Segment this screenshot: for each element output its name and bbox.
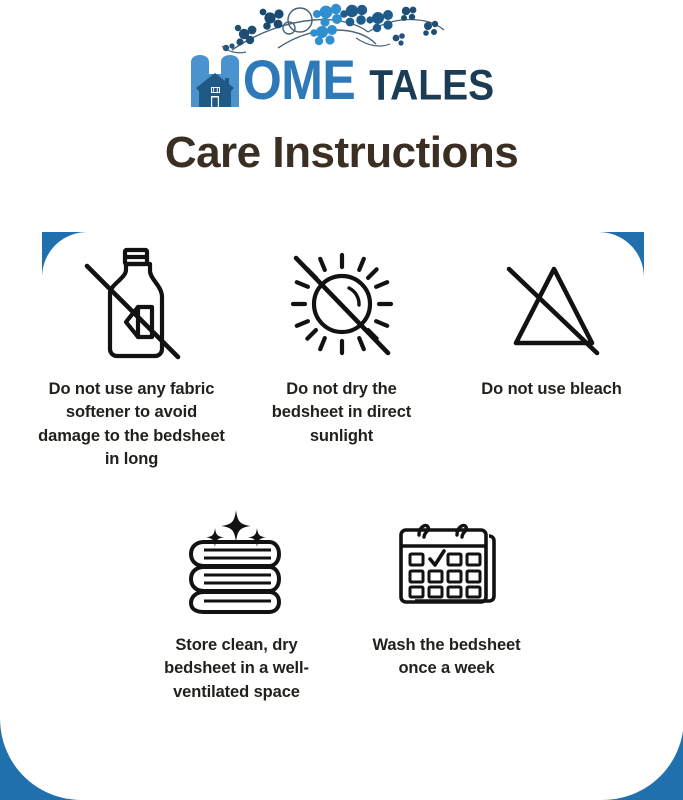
instructions-row-2: Store clean, dry bedsheet in a well-vent… <box>0 500 683 704</box>
brand-logo: OME TALES <box>0 0 683 118</box>
calendar-icon <box>393 500 501 620</box>
corner-accent-bottom-left <box>0 718 82 800</box>
instruction-card-no-bleach: Do not use bleach <box>447 244 657 401</box>
page-title: Care Instructions <box>0 128 683 178</box>
instruction-caption: Do not use any fabric softener to avoid … <box>37 378 227 472</box>
instruction-caption: Do not dry the bedsheet in direct sunlig… <box>259 378 424 448</box>
no-direct-sunlight-icon <box>283 244 401 364</box>
care-instructions-page: OME TALES Care Instructions <box>0 0 683 800</box>
corner-accent-bottom-right <box>602 718 683 800</box>
instruction-caption: Do not use bleach <box>481 378 621 401</box>
folded-towels-icon <box>181 500 293 620</box>
brand-wordmark: OME TALES <box>0 52 683 108</box>
logo-text-tales: TALES <box>369 64 494 107</box>
floral-vine-icon <box>218 2 468 54</box>
instruction-card-wash-weekly: Wash the bedsheet once a week <box>342 500 552 681</box>
instructions-grid: Do not use any fabric softener to avoid … <box>0 232 683 704</box>
no-fabric-softener-icon <box>74 244 190 364</box>
logo-text-home: OME <box>243 52 355 108</box>
instructions-row-1: Do not use any fabric softener to avoid … <box>0 244 683 472</box>
logo-h-with-house-icon <box>189 54 241 108</box>
instruction-caption: Store clean, dry bedsheet in a well-vent… <box>154 634 319 704</box>
instruction-caption: Wash the bedsheet once a week <box>364 634 529 681</box>
instruction-card-store-clean-dry: Store clean, dry bedsheet in a well-vent… <box>132 500 342 704</box>
instruction-card-no-direct-sunlight: Do not dry the bedsheet in direct sunlig… <box>237 244 447 448</box>
no-bleach-icon <box>497 244 607 364</box>
instruction-card-no-fabric-softener: Do not use any fabric softener to avoid … <box>27 244 237 472</box>
